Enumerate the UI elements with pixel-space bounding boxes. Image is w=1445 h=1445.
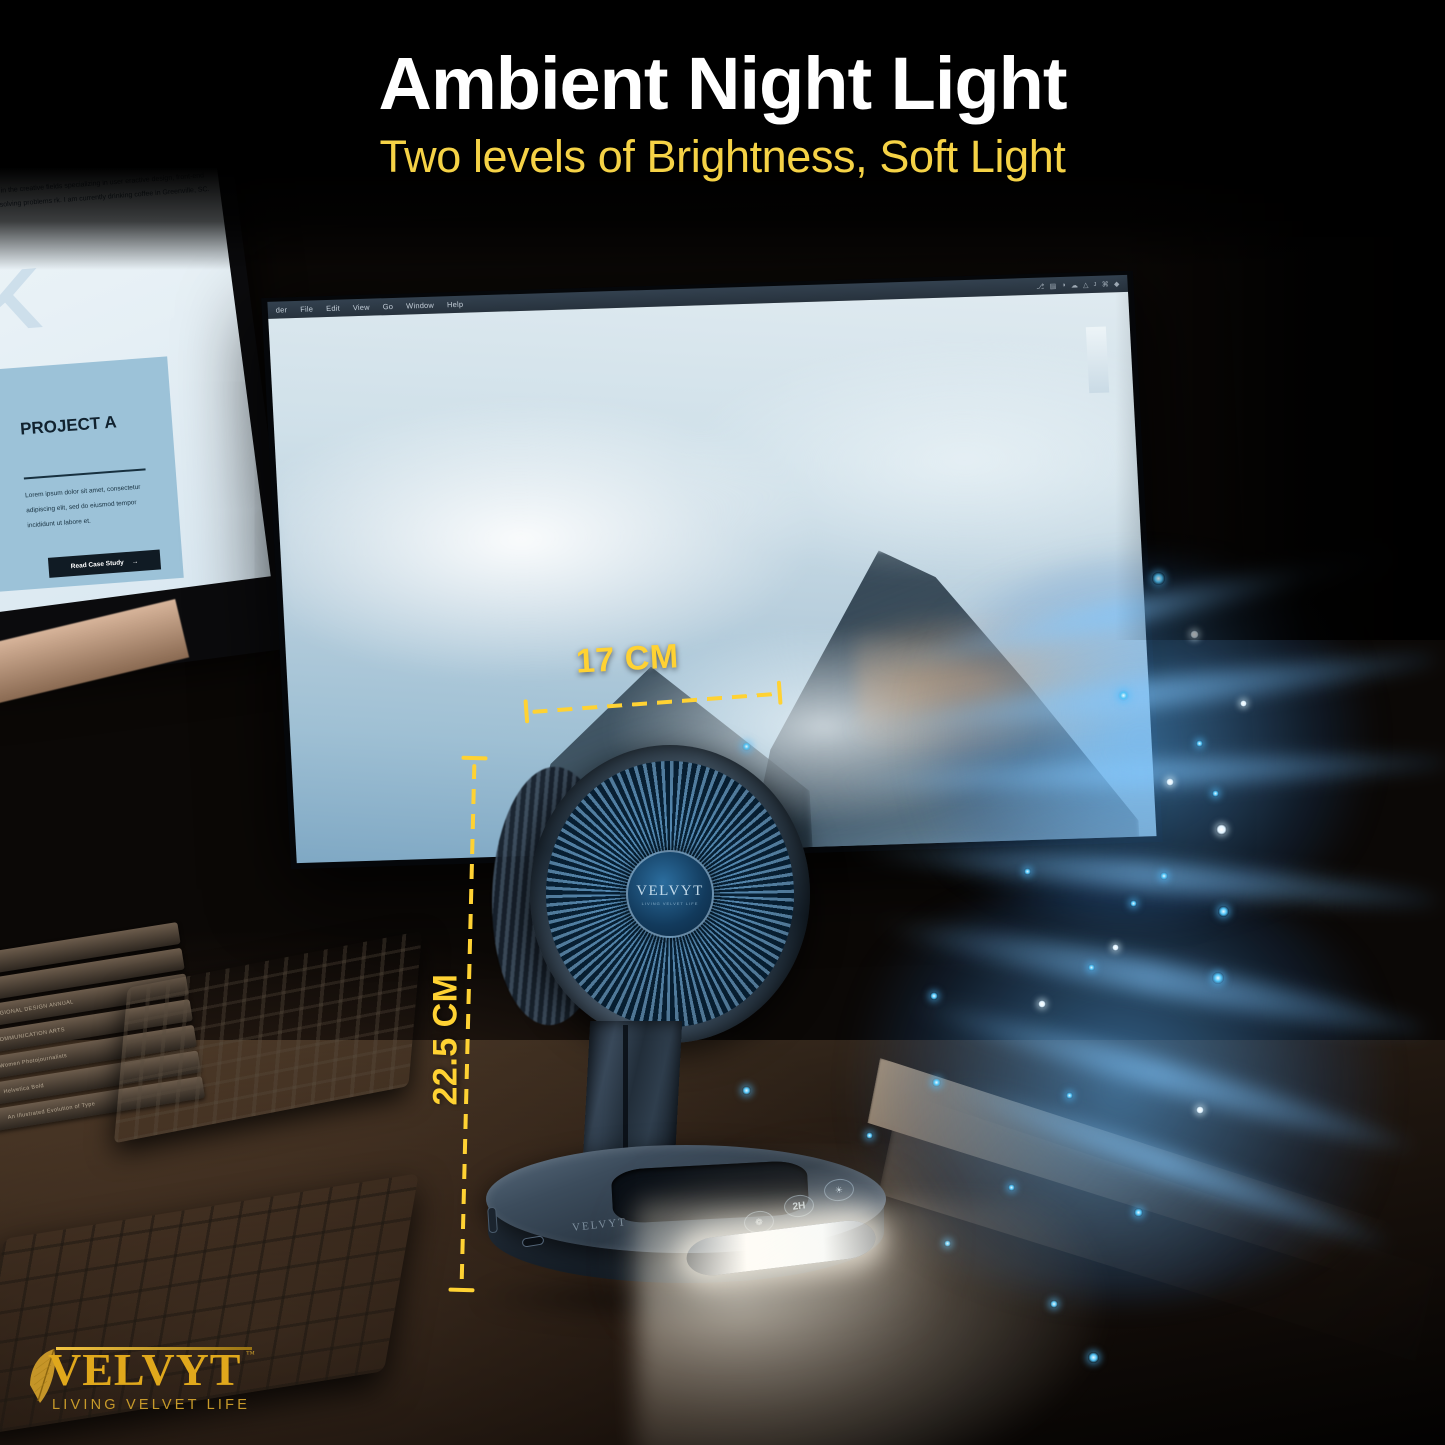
- menu-view[interactable]: View: [353, 303, 370, 313]
- dimension-cap-bottom: [448, 1288, 474, 1293]
- read-case-study-button[interactable]: Read Case Study →: [48, 549, 161, 577]
- menu-edit[interactable]: Edit: [326, 304, 340, 313]
- hub-tagline: LIVING VELVET LIFE: [642, 901, 699, 906]
- menubar-status-icons: ⎇ ▤ ◑ ☁ △ ᴊ ⌘ ◆: [1036, 280, 1120, 291]
- hub-brand-name: VELVYT: [636, 883, 704, 900]
- status-icon-6[interactable]: ᴊ: [1093, 280, 1097, 288]
- dimension-cap-top: [461, 756, 487, 761]
- page-subtitle: Two levels of Brightness, Soft Light: [0, 131, 1445, 183]
- brand-name: VELVYT: [48, 1347, 241, 1393]
- fan-base: VELVYT ❁ 2H ☀: [486, 1145, 886, 1295]
- menu-file[interactable]: File: [300, 304, 313, 313]
- project-card-body: Lorem ipsum dolor sit amet, consectetur …: [25, 480, 156, 534]
- status-icon-3[interactable]: ◑: [1061, 281, 1066, 289]
- page-title: Ambient Night Light: [0, 46, 1445, 121]
- trademark-icon: ™: [246, 1349, 255, 1359]
- brand-tagline: LIVING VELVET LIFE: [52, 1397, 250, 1413]
- fan-head: VELVYT LIVING VELVET LIFE: [510, 745, 810, 1045]
- status-icon-5[interactable]: △: [1083, 281, 1089, 289]
- status-icon-1[interactable]: ⎇: [1036, 282, 1045, 290]
- status-icon-2[interactable]: ▤: [1049, 282, 1056, 290]
- power-side-button[interactable]: [487, 1207, 498, 1234]
- project-card-rule: [24, 468, 146, 479]
- base-fold-slot: [611, 1160, 810, 1224]
- menu-window[interactable]: Window: [406, 301, 434, 311]
- fan-outer-ring: VELVYT LIVING VELVET LIFE: [530, 745, 810, 1043]
- project-card: PROJECT A Lorem ipsum dolor sit amet, co…: [0, 356, 184, 600]
- warm-sunlight: [852, 607, 1156, 758]
- brand-logo: VELVYT ™ LIVING VELVET LIFE: [18, 1341, 268, 1433]
- desk-fan-product: VELVYT LIVING VELVET LIFE VELVYT ❁ 2H ☀: [468, 745, 898, 1325]
- menu-go[interactable]: Go: [383, 302, 394, 311]
- window-tab: [1086, 327, 1109, 394]
- status-icon-7[interactable]: ⌘: [1102, 280, 1110, 288]
- width-dimension-label: 17 CM: [575, 637, 680, 681]
- headline-block: Ambient Night Light Two levels of Bright…: [0, 46, 1445, 183]
- menu-finder[interactable]: der: [276, 305, 288, 314]
- status-icon-4[interactable]: ☁: [1071, 281, 1079, 289]
- project-card-title: PROJECT A: [19, 412, 117, 439]
- product-marketing-image: work blog about contact s Lee Campbell &…: [0, 0, 1445, 1445]
- height-dimension-label: 22.5 CM: [427, 974, 466, 1106]
- fan-hub-badge: VELVYT LIVING VELVET LIFE: [626, 850, 714, 938]
- arrow-right-icon: →: [131, 558, 138, 565]
- read-case-study-label: Read Case Study: [71, 559, 124, 570]
- menu-help[interactable]: Help: [447, 300, 464, 309]
